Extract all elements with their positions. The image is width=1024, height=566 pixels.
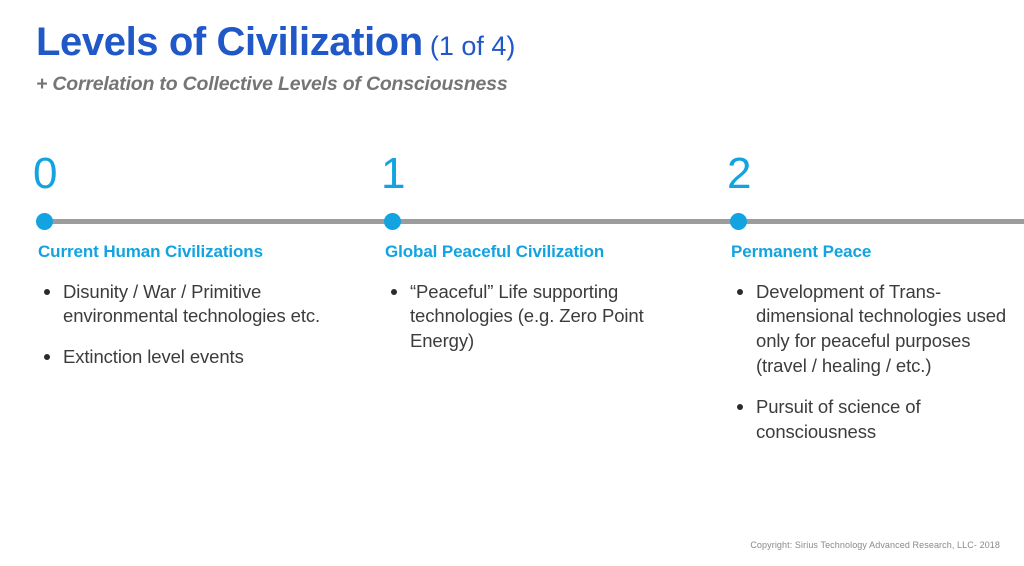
page-subtitle: + Correlation to Collective Levels of Co… xyxy=(36,73,976,96)
list-item: “Peaceful” Life supporting technologies … xyxy=(385,280,705,354)
level-bullets-0: Disunity / War / Primitive environmental… xyxy=(38,280,358,370)
level-column-2: Permanent Peace Development of Trans-dim… xyxy=(731,243,1021,460)
level-column-0: Current Human Civilizations Disunity / W… xyxy=(38,243,358,386)
timeline-dot-0 xyxy=(36,213,53,230)
slide-canvas: Levels of Civilization(1 of 4) + Correla… xyxy=(0,0,1024,566)
timeline-number-0: 0 xyxy=(33,152,57,196)
level-column-1: Global Peaceful Civilization “Peaceful” … xyxy=(385,243,705,370)
page-title: Levels of Civilization(1 of 4) xyxy=(36,22,976,62)
list-item: Extinction level events xyxy=(38,345,358,370)
list-item: Disunity / War / Primitive environmental… xyxy=(38,280,358,330)
list-item: Development of Trans-dimensional technol… xyxy=(731,280,1021,379)
slide-header: Levels of Civilization(1 of 4) + Correla… xyxy=(36,22,976,96)
level-heading-1: Global Peaceful Civilization xyxy=(385,243,705,262)
timeline-dot-1 xyxy=(384,213,401,230)
level-bullets-2: Development of Trans-dimensional technol… xyxy=(731,280,1021,445)
copyright-footer: Copyright: Sirius Technology Advanced Re… xyxy=(750,540,1000,550)
title-main-text: Levels of Civilization xyxy=(36,20,423,64)
timeline-dot-2 xyxy=(730,213,747,230)
level-bullets-1: “Peaceful” Life supporting technologies … xyxy=(385,280,705,354)
timeline-number-2: 2 xyxy=(727,152,751,196)
level-heading-0: Current Human Civilizations xyxy=(38,243,358,262)
level-heading-2: Permanent Peace xyxy=(731,243,1021,262)
title-sequence-text: (1 of 4) xyxy=(430,31,516,61)
timeline-rail xyxy=(38,219,1024,224)
timeline-number-1: 1 xyxy=(381,152,405,196)
list-item: Pursuit of science of consciousness xyxy=(731,395,1021,445)
